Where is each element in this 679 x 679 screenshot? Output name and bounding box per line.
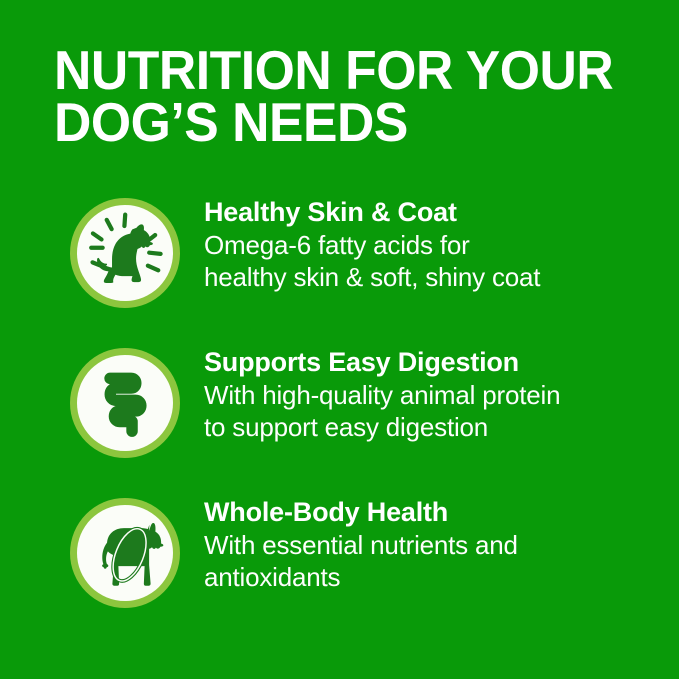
icon-badge-whole-body-health: [70, 498, 180, 608]
icon-badge-healthy-skin-coat: [70, 198, 180, 308]
feature-title: Supports Easy Digestion: [204, 346, 664, 379]
dog-orbit-icon: [77, 505, 173, 601]
feature-desc-line-1: With essential nutrients and: [204, 529, 664, 561]
icon-badge-supports-easy-digestion: [70, 348, 180, 458]
feature-desc-line-1: Omega-6 fatty acids for: [204, 229, 664, 261]
feature-list: Healthy Skin & Coat Omega-6 fatty acids …: [0, 190, 679, 640]
feature-desc-line-2: healthy skin & soft, shiny coat: [204, 261, 664, 293]
feature-text-healthy-skin-coat: Healthy Skin & Coat Omega-6 fatty acids …: [204, 196, 664, 293]
headline-line-2: DOG’S NEEDS: [54, 96, 618, 148]
feature-desc-line-2: to support easy digestion: [204, 411, 664, 443]
promo-panel: NUTRITION FOR YOUR DOG’S NEEDS: [0, 0, 679, 679]
page-title: NUTRITION FOR YOUR DOG’S NEEDS: [54, 44, 654, 148]
feature-title: Healthy Skin & Coat: [204, 196, 664, 229]
feature-title: Whole-Body Health: [204, 496, 664, 529]
feature-item-healthy-skin-coat: Healthy Skin & Coat Omega-6 fatty acids …: [0, 190, 679, 340]
feature-text-supports-easy-digestion: Supports Easy Digestion With high-qualit…: [204, 346, 664, 443]
intestine-icon: [77, 355, 173, 451]
headline-line-1: NUTRITION FOR YOUR: [54, 44, 618, 96]
feature-item-whole-body-health: Whole-Body Health With essential nutrien…: [0, 490, 679, 640]
dog-shine-icon: [77, 205, 173, 301]
feature-text-whole-body-health: Whole-Body Health With essential nutrien…: [204, 496, 664, 593]
feature-item-supports-easy-digestion: Supports Easy Digestion With high-qualit…: [0, 340, 679, 490]
feature-desc-line-2: antioxidants: [204, 561, 664, 593]
feature-desc-line-1: With high-quality animal protein: [204, 379, 664, 411]
